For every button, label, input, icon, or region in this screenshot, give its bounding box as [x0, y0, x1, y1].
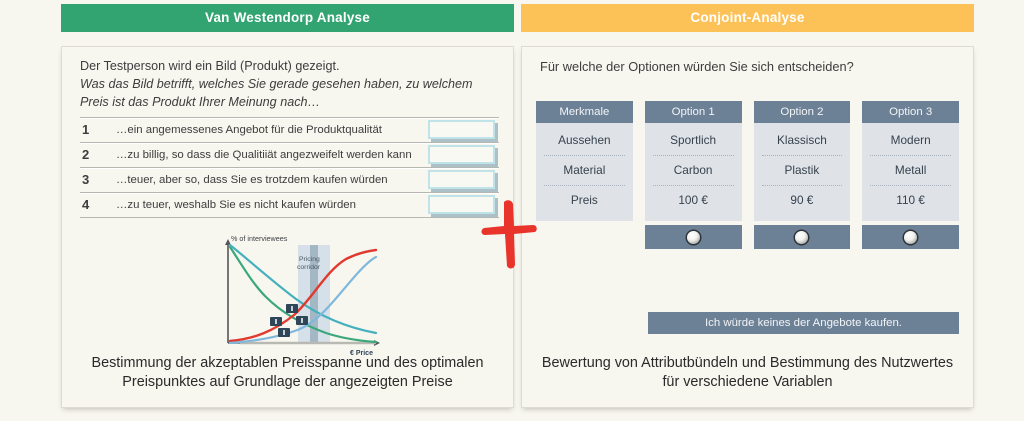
column-header-option-1: Option 1: [645, 101, 742, 123]
left-panel-body: Der Testperson wird ein Bild (Produkt) g…: [61, 46, 514, 408]
conjoint-column-option-3: Option 3 Modern Metall 110 €: [862, 101, 959, 249]
option-3-material: Metall: [870, 156, 951, 186]
question-row: 4 …zu teuer, weshalb Sie es nicht kaufen…: [80, 192, 499, 218]
right-caption: Bewertung von Attributbündeln und Bestim…: [532, 354, 963, 391]
conjoint-column-option-2: Option 2 Klassisch Plastik 90 €: [754, 101, 851, 249]
chart-annotation-line-2: corridor: [297, 264, 321, 271]
slide-canvas: Van Westendorp Analyse Der Testperson wi…: [0, 0, 1024, 421]
conjoint-column-option-1: Option 1 Sportlich Carbon 100 €: [645, 101, 742, 249]
column-header-merkmale: Merkmale: [536, 101, 633, 123]
option-2-select-bar[interactable]: [754, 225, 851, 249]
question-number: 4: [82, 197, 89, 212]
attribute-preis: Preis: [544, 186, 625, 215]
question-list: 1 …ein angemessenes Angebot für die Prod…: [80, 117, 499, 218]
left-panel-header: Van Westendorp Analyse: [61, 4, 514, 32]
question-row: 1 …ein angemessenes Angebot für die Prod…: [80, 117, 499, 142]
price-input-1[interactable]: [428, 120, 495, 139]
option-2-material: Plastik: [762, 156, 843, 186]
column-header-option-3: Option 3: [862, 101, 959, 123]
attributes-footer-spacer: [536, 225, 633, 249]
option-3-select-bar[interactable]: [862, 225, 959, 249]
van-westendorp-panel: Van Westendorp Analyse Der Testperson wi…: [61, 4, 514, 408]
van-westendorp-chart: % of interviewees € Price Pricing corrid…: [200, 233, 400, 361]
option-2-aussehen: Klassisch: [762, 126, 843, 156]
chart-ylabel: % of interviewees: [231, 234, 288, 243]
conjoint-question: Für welche der Optionen würden Sie sich …: [540, 59, 955, 74]
conjoint-column-attributes: Merkmale Aussehen Material Preis: [536, 101, 633, 249]
option-1-preis: 100 €: [653, 186, 734, 215]
option-3-aussehen: Modern: [870, 126, 951, 156]
question-row: 3 …teuer, aber so, dass Sie es trotzdem …: [80, 167, 499, 192]
chart-annotation-line-1: Pricing: [299, 256, 320, 263]
option-3-cells: Modern Metall 110 €: [862, 123, 959, 221]
attribute-aussehen: Aussehen: [544, 126, 625, 156]
none-of-the-above-button[interactable]: Ich würde keines der Angebote kaufen.: [648, 312, 959, 334]
question-text: …zu teuer, weshalb Sie es nicht kaufen w…: [116, 199, 356, 211]
intro-line-1: Der Testperson wird ein Bild (Produkt) g…: [80, 58, 495, 76]
radio-button-option-3[interactable]: [904, 231, 917, 244]
question-number: 2: [82, 147, 89, 162]
intro-line-2: Was das Bild betrifft, welches Sie gerad…: [80, 76, 495, 112]
question-number: 3: [82, 172, 89, 187]
option-2-cells: Klassisch Plastik 90 €: [754, 123, 851, 221]
conjoint-table: Merkmale Aussehen Material Preis Option …: [536, 101, 959, 249]
option-1-aussehen: Sportlich: [653, 126, 734, 156]
option-1-cells: Sportlich Carbon 100 €: [645, 123, 742, 221]
column-header-option-2: Option 2: [754, 101, 851, 123]
attributes-cells: Aussehen Material Preis: [536, 123, 633, 221]
question-text: …teuer, aber so, dass Sie es trotzdem ka…: [116, 174, 388, 186]
left-caption: Bestimmung der akzeptablen Preisspanne u…: [72, 354, 503, 391]
option-1-select-bar[interactable]: [645, 225, 742, 249]
question-number: 1: [82, 122, 89, 137]
price-input-2[interactable]: [428, 145, 495, 164]
option-3-preis: 110 €: [870, 186, 951, 215]
question-text: …zu billig, so dass die Qualitiiät angez…: [116, 149, 412, 161]
option-2-preis: 90 €: [762, 186, 843, 215]
right-panel-body: Für welche der Optionen würden Sie sich …: [521, 46, 974, 408]
radio-button-option-2[interactable]: [795, 231, 808, 244]
option-1-material: Carbon: [653, 156, 734, 186]
attribute-material: Material: [544, 156, 625, 186]
radio-button-option-1[interactable]: [687, 231, 700, 244]
right-panel-header: Conjoint-Analyse: [521, 4, 974, 32]
question-row: 2 …zu billig, so dass die Qualitiiät ang…: [80, 142, 499, 167]
plus-icon: [478, 196, 540, 274]
question-text: …ein angemessenes Angebot für die Produk…: [116, 124, 382, 136]
conjoint-panel: Conjoint-Analyse Für welche der Optionen…: [521, 4, 974, 408]
price-input-3[interactable]: [428, 170, 495, 189]
left-intro-text: Der Testperson wird ein Bild (Produkt) g…: [80, 58, 495, 112]
